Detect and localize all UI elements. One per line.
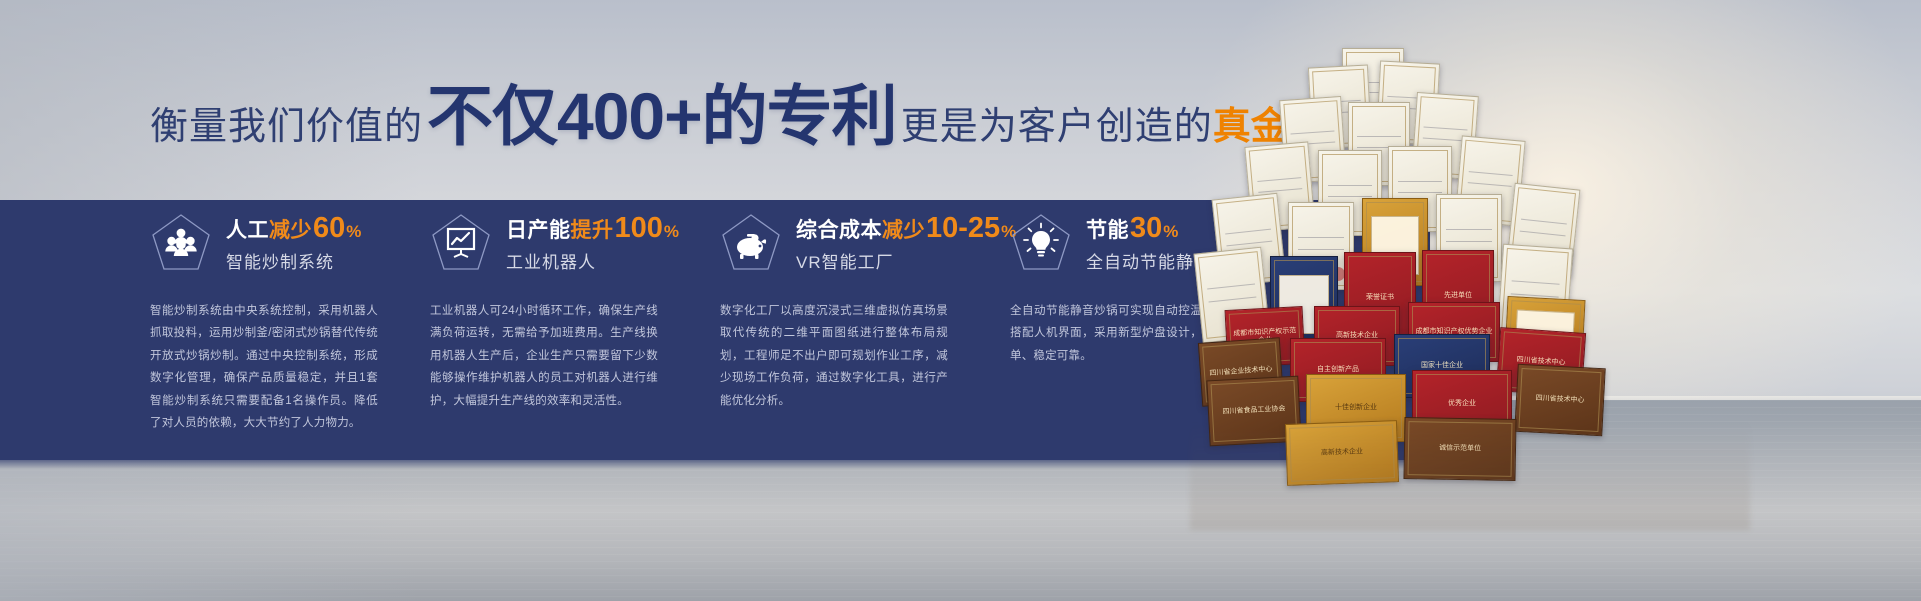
headline-prefix: 衡量我们价值的 [150,108,423,146]
stat-verb-3: 减少 [882,220,925,241]
stat-unit-1: % [346,223,361,240]
feature-stat-2: 日产能 提升 100 % [506,214,679,243]
stat-verb-1: 减少 [269,220,312,241]
feature-item-3[interactable]: 综合成本 减少 10-25 % VR智能工厂 数字化工厂以高度沉浸式三维虚拟仿真… [720,200,1010,462]
feature-subtitle-2: 工业机器人 [506,248,679,273]
stat-label-2: 日产能 [506,220,571,241]
feature-body-3: 数字化工厂以高度沉浸式三维虚拟仿真场景取代传统的二维平面图纸进行整体布局规划，工… [720,300,948,412]
headline-emphasis: 不仅400+的专利 [427,83,897,149]
headline-middle: 更是为客户创造的 [901,108,1213,146]
stat-number-1: 60 [313,214,345,243]
feature-body-2: 工业机器人可24小时循环工作，确保生产线满负荷运转，无需给予加班费用。生产线换用… [430,300,658,412]
feature-stat-3: 综合成本 减少 10-25 % [796,214,1016,243]
people-group-icon [150,212,212,274]
feature-text-3: 综合成本 减少 10-25 % VR智能工厂 [796,214,1016,273]
feature-subtitle-3: VR智能工厂 [796,248,1016,273]
feature-body-1: 智能炒制系统由中央系统控制，采用机器人抓取投料，运用炒制釜/密闭式炒锅替代传统开… [150,300,378,435]
chart-board-icon [430,212,492,274]
stat-number-4: 30 [1130,214,1162,243]
feature-header-3: 综合成本 减少 10-25 % VR智能工厂 [720,200,1010,286]
feature-item-1[interactable]: 人工 减少 60 % 智能炒制系统 智能炒制系统由中央系统控制，采用机器人抓取投… [150,200,440,462]
stat-unit-2: % [664,223,679,240]
stat-label-1: 人工 [226,220,269,241]
feature-stat-1: 人工 减少 60 % [226,214,361,243]
lightbulb-icon [1010,212,1072,274]
feature-item-2[interactable]: 日产能 提升 100 % 工业机器人 工业机器人可24小时循环工作，确保生产线满… [430,200,720,462]
feature-text-2: 日产能 提升 100 % 工业机器人 [506,214,679,273]
stat-label-3: 综合成本 [796,220,882,241]
certificate-reflection [1190,420,1750,530]
stat-unit-4: % [1163,223,1178,240]
stat-label-4: 节能 [1086,220,1129,241]
feature-subtitle-1: 智能炒制系统 [226,248,361,273]
feature-header-1: 人工 减少 60 % 智能炒制系统 [150,200,440,286]
feature-header-2: 日产能 提升 100 % 工业机器人 [430,200,720,286]
feature-text-1: 人工 减少 60 % 智能炒制系统 [226,214,361,273]
piggy-bank-icon [720,212,782,274]
banner-stage: 衡量我们价值的 不仅400+的专利 更是为客户创造的 真金白银的效益 [0,0,1921,601]
stat-number-3: 10-25 [926,214,1000,243]
stat-number-2: 100 [615,214,663,243]
stat-verb-2: 提升 [571,220,614,241]
